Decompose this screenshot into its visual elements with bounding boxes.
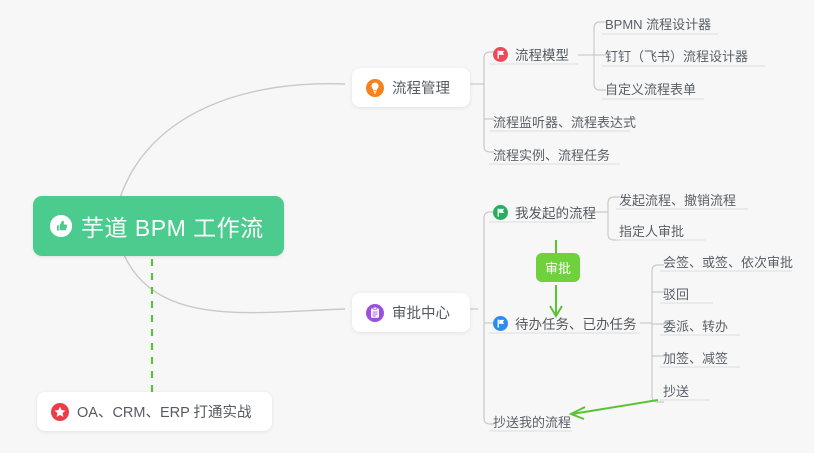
topic-label-todo-done-tasks: 待办任务、已办任务 <box>515 313 637 333</box>
branch-process-management[interactable]: 流程管理 <box>352 68 470 107</box>
leaf-cc-my-process[interactable]: 抄送我的流程 <box>490 410 577 435</box>
leaf-custom-process-form[interactable]: 自定义流程表单 <box>602 77 702 102</box>
branch-label-process-management: 流程管理 <box>392 77 450 98</box>
footnote-label: OA、CRM、ERP 打通实战 <box>77 401 252 422</box>
footnote-node[interactable]: OA、CRM、ERP 打通实战 <box>37 392 272 431</box>
flag-icon <box>493 205 508 220</box>
leaf-assignee-approval[interactable]: 指定人审批 <box>616 219 690 244</box>
topic-todo-done-tasks[interactable]: 待办任务、已办任务 <box>491 311 643 337</box>
topic-my-initiated[interactable]: 我发起的流程 <box>491 200 602 226</box>
flag-icon <box>493 316 508 331</box>
leaf-dingtalk-feishu-designer[interactable]: 钉钉（飞书）流程设计器 <box>602 44 754 69</box>
leaf-process-listener[interactable]: 流程监听器、流程表达式 <box>490 110 642 135</box>
clipboard-icon <box>366 304 384 322</box>
branch-label-approval-center: 审批中心 <box>392 302 450 323</box>
leaf-add-remove-sign[interactable]: 加签、减签 <box>660 346 734 371</box>
root-label: 芋道 BPM 工作流 <box>81 209 264 243</box>
star-icon <box>51 403 69 421</box>
thumbs-up-icon <box>50 215 72 237</box>
lightbulb-icon <box>366 79 384 97</box>
leaf-start-cancel-process[interactable]: 发起流程、撤销流程 <box>616 188 742 213</box>
mindmap-canvas: 芋道 BPM 工作流 OA、CRM、ERP 打通实战 流程管理 <box>0 0 814 453</box>
topic-label-my-initiated: 我发起的流程 <box>515 202 596 222</box>
branch-approval-center[interactable]: 审批中心 <box>352 293 470 332</box>
approval-annotation-badge: 审批 <box>536 253 580 282</box>
topic-process-model[interactable]: 流程模型 <box>491 42 575 68</box>
flag-icon <box>493 47 508 62</box>
root-node[interactable]: 芋道 BPM 工作流 <box>33 196 284 256</box>
leaf-bpmn-designer[interactable]: BPMN 流程设计器 <box>602 12 717 37</box>
leaf-reject[interactable]: 驳回 <box>660 282 695 307</box>
leaf-delegate-transfer[interactable]: 委派、转办 <box>660 314 734 339</box>
leaf-countersign-modes[interactable]: 会签、或签、依次审批 <box>660 250 799 275</box>
topic-label-process-model: 流程模型 <box>515 44 569 64</box>
leaf-process-instance[interactable]: 流程实例、流程任务 <box>490 143 616 168</box>
leaf-cc[interactable]: 抄送 <box>660 379 695 404</box>
